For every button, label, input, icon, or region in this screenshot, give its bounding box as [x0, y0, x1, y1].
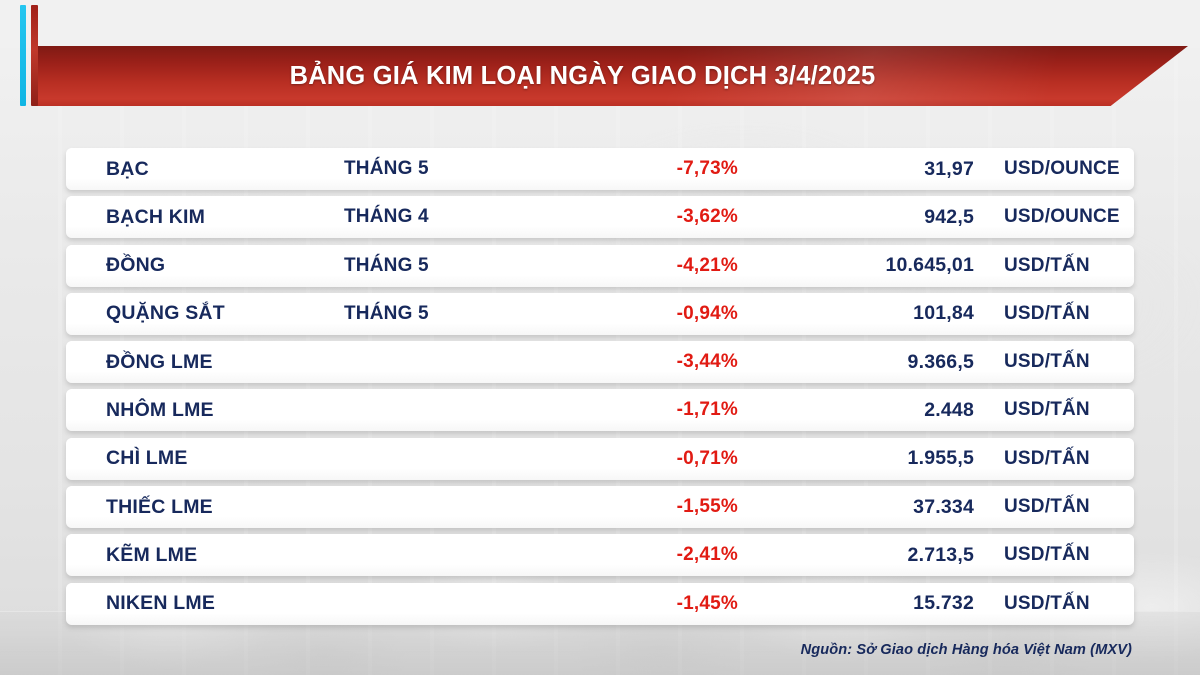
cell-commodity-name: THIẾC LME — [66, 496, 344, 519]
table-row: THIẾC LME-1,55%37.334USD/TẤN — [66, 486, 1134, 528]
cell-unit: USD/TẤN — [974, 496, 1134, 518]
table-row: NIKEN LME-1,45%15.732USD/TẤN — [66, 583, 1134, 625]
metal-price-table: BẠCTHÁNG 5-7,73%31,97USD/OUNCEBẠCH KIMTH… — [66, 148, 1134, 631]
cell-change-percent: -4,21% — [559, 255, 774, 277]
table-row: QUẶNG SẮTTHÁNG 5-0,94%101,84USD/TẤN — [66, 293, 1134, 335]
cell-change-percent: -1,55% — [559, 496, 774, 518]
table-row: ĐỒNG LME-3,44%9.366,5USD/TẤN — [66, 341, 1134, 383]
source-note: Nguồn: Sở Giao dịch Hàng hóa Việt Nam (M… — [801, 642, 1132, 658]
cell-price: 37.334 — [774, 496, 974, 519]
cell-contract-month: THÁNG 5 — [344, 158, 559, 180]
cell-change-percent: -3,62% — [559, 206, 774, 228]
cell-unit: USD/TẤN — [974, 593, 1134, 615]
cell-change-percent: -1,71% — [559, 399, 774, 421]
table-row: NHÔM LME-1,71%2.448USD/TẤN — [66, 389, 1134, 431]
cell-contract-month: THÁNG 5 — [344, 303, 559, 325]
cell-change-percent: -2,41% — [559, 544, 774, 566]
cell-commodity-name: ĐỒNG — [66, 254, 344, 277]
cell-contract-month: THÁNG 5 — [344, 255, 559, 277]
table-row: BẠCTHÁNG 5-7,73%31,97USD/OUNCE — [66, 148, 1134, 190]
cell-change-percent: -7,73% — [559, 158, 774, 180]
cell-commodity-name: KẼM LME — [66, 544, 344, 567]
accent-bar-cyan — [20, 5, 26, 106]
cell-commodity-name: BẠCH KIM — [66, 206, 344, 229]
cell-price: 15.732 — [774, 592, 974, 615]
cell-change-percent: -1,45% — [559, 593, 774, 615]
cell-unit: USD/OUNCE — [974, 158, 1134, 180]
cell-unit: USD/TẤN — [974, 399, 1134, 421]
table-row: ĐỒNGTHÁNG 5-4,21%10.645,01USD/TẤN — [66, 245, 1134, 287]
cell-commodity-name: NHÔM LME — [66, 399, 344, 422]
cell-commodity-name: CHÌ LME — [66, 447, 344, 470]
accent-bar-red — [31, 5, 38, 106]
cell-commodity-name: BẠC — [66, 158, 344, 181]
cell-unit: USD/TẤN — [974, 303, 1134, 325]
cell-unit: USD/TẤN — [974, 544, 1134, 566]
cell-price: 10.645,01 — [774, 254, 974, 277]
table-row: BẠCH KIMTHÁNG 4-3,62%942,5USD/OUNCE — [66, 196, 1134, 238]
page-title: BẢNG GIÁ KIM LOẠI NGÀY GIAO DỊCH 3/4/202… — [33, 46, 1188, 106]
cell-unit: USD/OUNCE — [974, 206, 1134, 228]
cell-price: 31,97 — [774, 158, 974, 181]
table-row: CHÌ LME-0,71%1.955,5USD/TẤN — [66, 438, 1134, 480]
cell-unit: USD/TẤN — [974, 448, 1134, 470]
cell-change-percent: -0,71% — [559, 448, 774, 470]
cell-commodity-name: ĐỒNG LME — [66, 351, 344, 374]
cell-change-percent: -3,44% — [559, 351, 774, 373]
cell-price: 101,84 — [774, 302, 974, 325]
accent-bars — [20, 5, 42, 106]
cell-change-percent: -0,94% — [559, 303, 774, 325]
cell-unit: USD/TẤN — [974, 351, 1134, 373]
table-row: KẼM LME-2,41%2.713,5USD/TẤN — [66, 534, 1134, 576]
cell-price: 2.713,5 — [774, 544, 974, 567]
header-background — [0, 0, 1200, 48]
cell-contract-month: THÁNG 4 — [344, 206, 559, 228]
cell-price: 1.955,5 — [774, 447, 974, 470]
cell-price: 2.448 — [774, 399, 974, 422]
cell-commodity-name: QUẶNG SẮT — [66, 302, 344, 325]
cell-price: 9.366,5 — [774, 351, 974, 374]
cell-commodity-name: NIKEN LME — [66, 592, 344, 615]
page-header — [0, 0, 1200, 48]
cell-price: 942,5 — [774, 206, 974, 229]
title-banner: BẢNG GIÁ KIM LOẠI NGÀY GIAO DỊCH 3/4/202… — [33, 46, 1188, 106]
cell-unit: USD/TẤN — [974, 255, 1134, 277]
